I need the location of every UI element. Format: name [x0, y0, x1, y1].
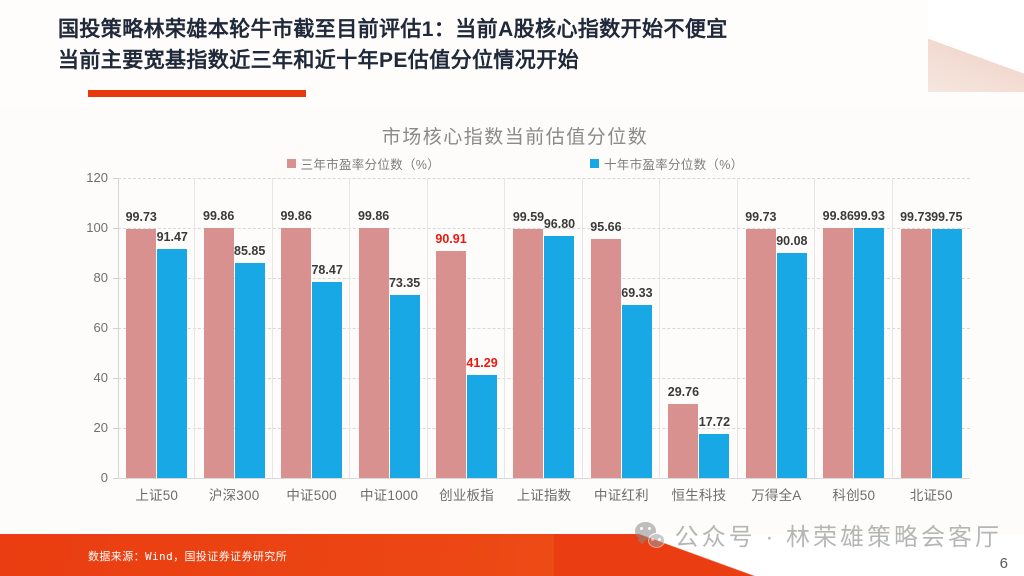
x-axis-label: 沪深300: [195, 484, 272, 504]
bar-value-label: 91.47: [157, 230, 188, 244]
y-axis-tick-label: 60: [62, 320, 108, 335]
bar-three-year[interactable]: 29.76: [668, 404, 698, 478]
bar-ten-year[interactable]: 99.75: [932, 229, 962, 478]
bar-value-label: 29.76: [668, 385, 699, 399]
legend-label-ten-year: 十年市盈率分位数（%）: [604, 154, 743, 173]
bar-ten-year[interactable]: 85.85: [235, 263, 265, 478]
bar-ten-year[interactable]: 78.47: [312, 282, 342, 478]
y-axis-tick-mark: [113, 478, 118, 479]
watermark-text: 公众号 · 林荣雄策略会客厅: [675, 517, 1002, 552]
bar-ten-year[interactable]: 73.35: [390, 295, 420, 478]
y-axis-tick-label: 80: [62, 270, 108, 285]
grid-line: [118, 478, 970, 479]
bar-value-label: 99.86: [823, 209, 854, 223]
bar-ten-year[interactable]: 91.47: [157, 249, 187, 478]
bar-group: 99.8699.93: [815, 178, 892, 478]
bar-value-label: 96.80: [544, 217, 575, 231]
bar-three-year[interactable]: 99.86: [204, 228, 234, 478]
bar-three-year[interactable]: 90.91: [436, 251, 466, 478]
x-axis-labels: 上证50沪深300中证500中证1000创业板指上证指数中证红利恒生科技万得全A…: [118, 484, 970, 504]
bar-three-year[interactable]: 95.66: [591, 239, 621, 478]
watermark: 公众号 · 林荣雄策略会客厅: [635, 517, 1002, 552]
bar-group: 29.7617.72: [660, 178, 737, 478]
plot-area: 020406080100120 99.7391.4799.8685.8599.8…: [118, 178, 970, 478]
y-axis-tick-label: 20: [62, 420, 108, 435]
bar-value-label: 90.08: [776, 234, 807, 248]
bar-group: 99.5996.80: [505, 178, 582, 478]
bar-group: 99.8685.85: [195, 178, 272, 478]
bar-three-year[interactable]: 99.86: [359, 228, 389, 478]
bar-value-label: 85.85: [234, 244, 265, 258]
bar-value-label: 99.73: [126, 210, 157, 224]
y-axis-tick-label: 100: [62, 220, 108, 235]
x-axis-label: 北证50: [893, 484, 970, 504]
bar-value-label: 99.73: [900, 210, 931, 224]
bar-value-label: 99.59: [513, 210, 544, 224]
bar-ten-year[interactable]: 99.93: [854, 228, 884, 478]
bar-value-label: 90.91: [435, 232, 466, 246]
title-underline-accent: [88, 90, 306, 97]
bar-three-year[interactable]: 99.86: [823, 228, 853, 478]
x-axis-label: 中证1000: [350, 484, 427, 504]
chart-title: 市场核心指数当前估值分位数: [60, 122, 970, 149]
bar-groups: 99.7391.4799.8685.8599.8678.4799.8673.35…: [118, 178, 970, 478]
page-title: 国投策略林荣雄本轮牛市截至目前评估1：当前A股核心指数开始不便宜 当前主要宽基指…: [58, 14, 958, 76]
slide: 国投策略林荣雄本轮牛市截至目前评估1：当前A股核心指数开始不便宜 当前主要宽基指…: [0, 0, 1024, 576]
bar-value-label: 99.86: [280, 209, 311, 223]
page-number: 6: [1000, 555, 1008, 572]
x-axis-label: 万得全A: [738, 484, 815, 504]
bar-group: 99.7390.08: [738, 178, 815, 478]
bar-group: 90.9141.29: [428, 178, 505, 478]
x-axis-label: 上证指数: [505, 484, 582, 504]
bar-three-year[interactable]: 99.73: [901, 229, 931, 478]
slide-header: 国投策略林荣雄本轮牛市截至目前评估1：当前A股核心指数开始不便宜 当前主要宽基指…: [0, 0, 1024, 108]
bar-three-year[interactable]: 99.73: [746, 229, 776, 478]
bar-value-label: 41.29: [466, 356, 497, 370]
x-axis-label: 创业板指: [428, 484, 505, 504]
bar-ten-year[interactable]: 69.33: [622, 305, 652, 478]
bar-group: 99.7391.47: [118, 178, 195, 478]
legend-item-three-year[interactable]: 三年市盈率分位数（%）: [287, 154, 440, 173]
y-axis-tick-label: 0: [62, 470, 108, 485]
header-corner-decoration: [928, 0, 1024, 92]
bar-three-year[interactable]: 99.86: [281, 228, 311, 478]
bar-three-year[interactable]: 99.59: [513, 229, 543, 478]
bar-value-label: 78.47: [311, 263, 342, 277]
y-axis-tick-label: 120: [62, 170, 108, 185]
page-title-line-1: 国投策略林荣雄本轮牛市截至目前评估1：当前A股核心指数开始不便宜: [58, 14, 958, 45]
x-axis-label: 中证红利: [583, 484, 660, 504]
legend-swatch-three-year: [287, 159, 296, 168]
bar-value-label: 99.73: [745, 210, 776, 224]
x-axis-label: 科创50: [815, 484, 892, 504]
bar-ten-year[interactable]: 96.80: [544, 236, 574, 478]
bar-three-year[interactable]: 99.73: [126, 229, 156, 478]
page-title-line-2: 当前主要宽基指数近三年和近十年PE估值分位情况开始: [58, 45, 958, 76]
bar-group: 99.8673.35: [350, 178, 427, 478]
chart-container: 市场核心指数当前估值分位数 三年市盈率分位数（%） 十年市盈率分位数（%） 02…: [60, 110, 970, 520]
x-axis-label: 恒生科技: [660, 484, 737, 504]
chart-source-note: 数据来源：Wind，国投证券证券研究所: [88, 548, 287, 564]
bar-group: 99.8678.47: [273, 178, 350, 478]
bar-value-label: 99.93: [854, 209, 885, 223]
y-axis-tick-label: 40: [62, 370, 108, 385]
x-axis-label: 上证50: [118, 484, 195, 504]
legend-label-three-year: 三年市盈率分位数（%）: [301, 154, 440, 173]
bar-value-label: 95.66: [590, 220, 621, 234]
wechat-icon: [635, 522, 665, 548]
bar-group: 99.7399.75: [893, 178, 970, 478]
chart-legend: 三年市盈率分位数（%） 十年市盈率分位数（%）: [60, 154, 970, 173]
bar-value-label: 99.75: [931, 210, 962, 224]
legend-item-ten-year[interactable]: 十年市盈率分位数（%）: [590, 154, 743, 173]
bar-ten-year[interactable]: 90.08: [777, 253, 807, 478]
bar-ten-year[interactable]: 41.29: [467, 375, 497, 478]
bar-value-label: 99.86: [203, 209, 234, 223]
bar-value-label: 73.35: [389, 276, 420, 290]
bar-ten-year[interactable]: 17.72: [699, 434, 729, 478]
bar-group: 95.6669.33: [583, 178, 660, 478]
bar-value-label: 69.33: [621, 286, 652, 300]
legend-swatch-ten-year: [590, 159, 599, 168]
x-axis-label: 中证500: [273, 484, 350, 504]
bar-value-label: 99.86: [358, 209, 389, 223]
bar-value-label: 17.72: [699, 415, 730, 429]
